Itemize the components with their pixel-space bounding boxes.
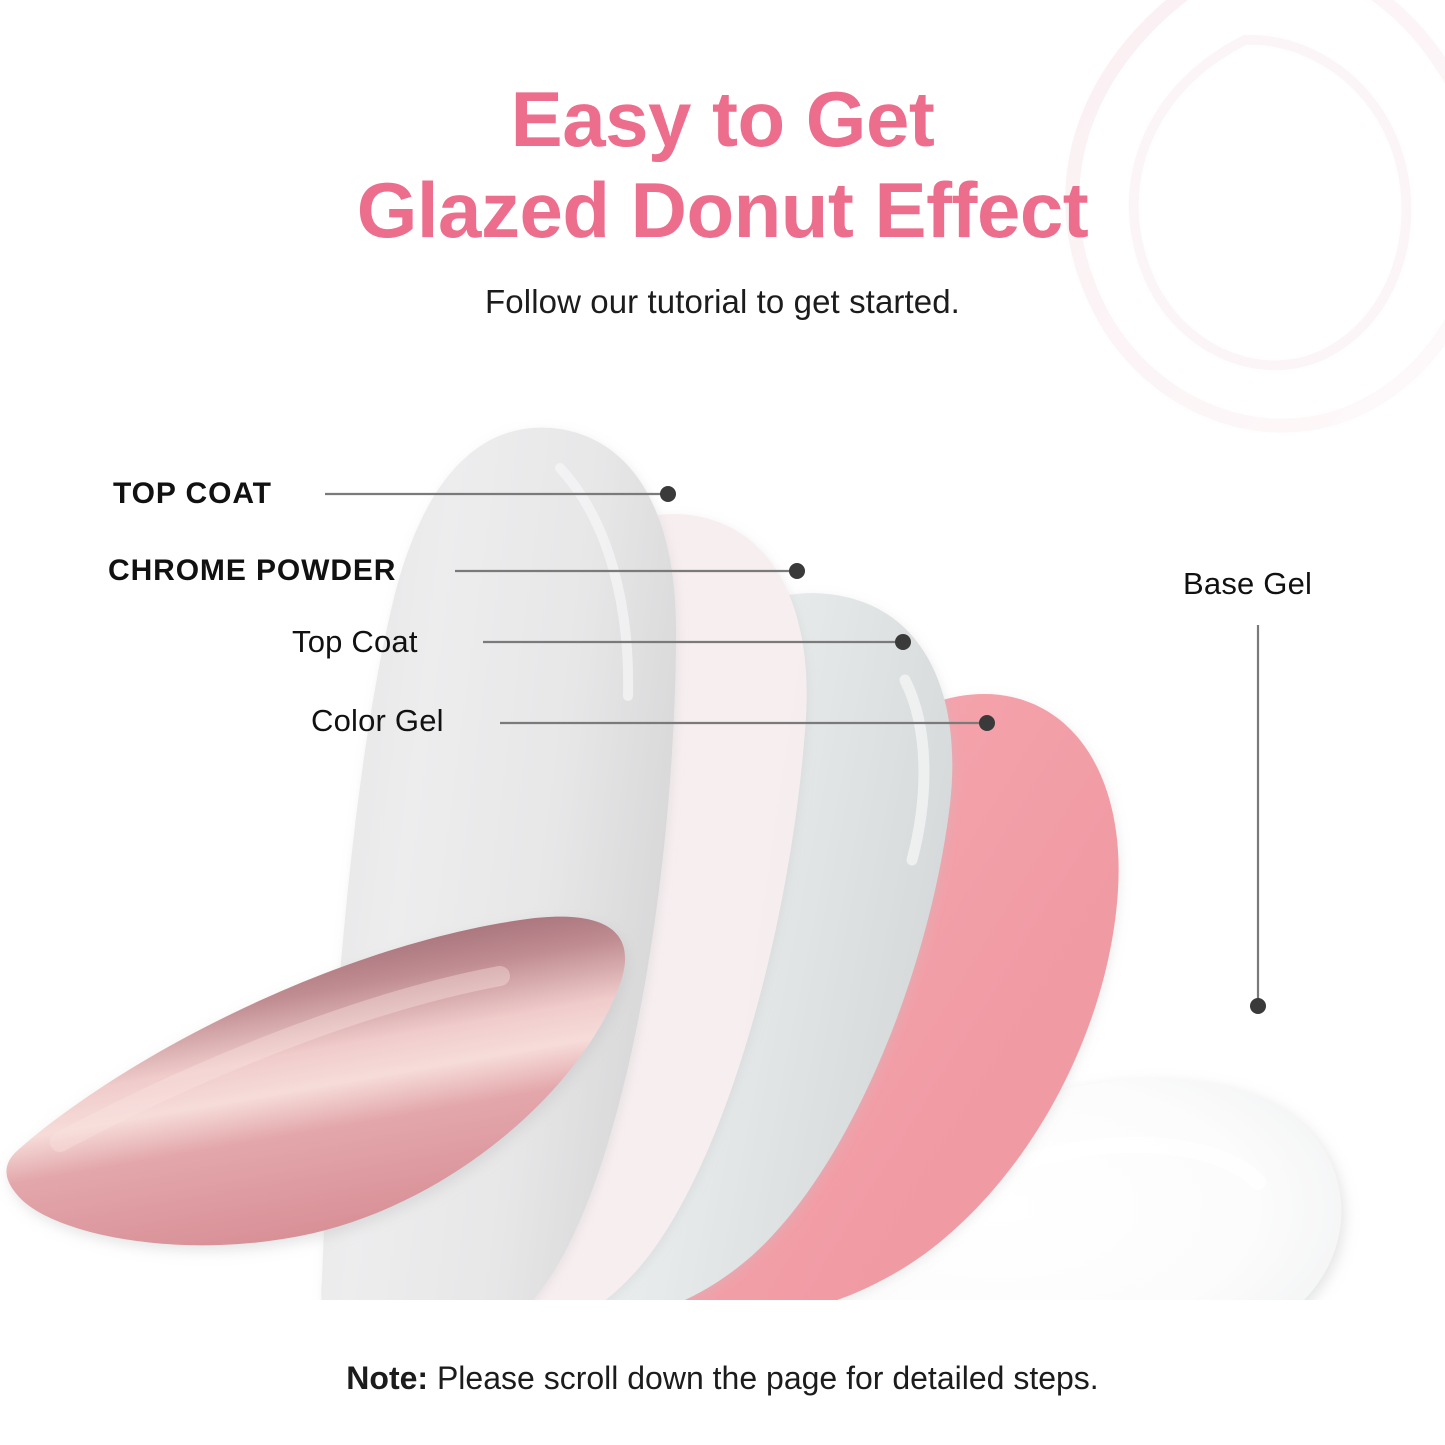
page-root: Easy to Get Glazed Donut Effect Follow o… bbox=[0, 0, 1445, 1445]
callout-label-chrome-powder: CHROME POWDER bbox=[108, 554, 396, 588]
title-line-1: Easy to Get bbox=[0, 74, 1445, 165]
title-line-2: Glazed Donut Effect bbox=[0, 165, 1445, 256]
page-subtitle: Follow our tutorial to get started. bbox=[0, 283, 1445, 321]
callout-label-color-gel: Color Gel bbox=[311, 703, 444, 739]
leader-dot-color-gel bbox=[979, 715, 995, 731]
footer-note-text: Please scroll down the page for detailed… bbox=[437, 1360, 1099, 1396]
footer-note-label: Note: bbox=[346, 1360, 428, 1396]
callout-label-top-coat-primary: TOP COAT bbox=[113, 477, 272, 511]
callout-label-top-coat-secondary: Top Coat bbox=[292, 624, 418, 660]
footer-note: Note: Please scroll down the page for de… bbox=[0, 1360, 1445, 1397]
leader-dot-chrome-powder bbox=[789, 563, 805, 579]
nail-layers-illustration bbox=[0, 400, 1445, 1300]
leader-dot-top-coat-secondary bbox=[895, 634, 911, 650]
page-title: Easy to Get Glazed Donut Effect bbox=[0, 74, 1445, 257]
leader-dot-base-gel bbox=[1250, 998, 1266, 1014]
leader-dot-top-coat-primary bbox=[660, 486, 676, 502]
callout-label-base-gel: Base Gel bbox=[1183, 566, 1312, 602]
header: Easy to Get Glazed Donut Effect Follow o… bbox=[0, 0, 1445, 321]
